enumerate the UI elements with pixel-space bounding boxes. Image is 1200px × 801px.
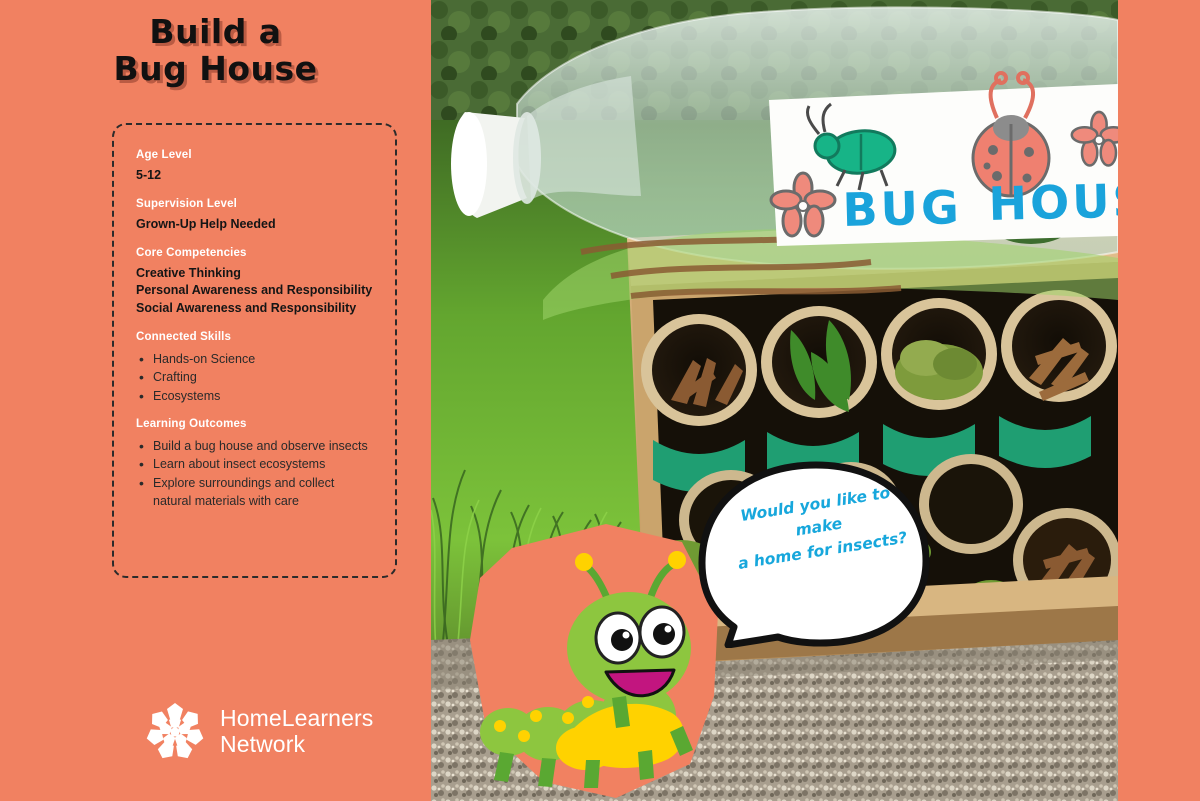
field-connected-skills: Connected Skills Hands-on Science Crafti… xyxy=(136,331,385,405)
value-line: Social Awareness and Responsibility xyxy=(136,300,385,318)
title-line-1: Build a xyxy=(0,14,431,51)
list-item: Hands-on Science xyxy=(136,350,385,368)
field-label: Learning Outcomes xyxy=(136,418,385,430)
field-value: Grown-Up Help Needed xyxy=(136,216,385,234)
logo-line-1: HomeLearners xyxy=(220,705,373,731)
value-line: Grown-Up Help Needed xyxy=(136,216,385,234)
speech-bubble: Would you like to make a home for insect… xyxy=(694,443,934,648)
field-label: Core Competencies xyxy=(136,247,385,259)
caterpillar-mascot xyxy=(466,520,720,801)
list-item-line-2: natural materials with care xyxy=(153,492,385,510)
left-info-column: Build a Bug House Age Level 5-12 Supervi… xyxy=(0,0,431,801)
flower-petal-cluster-icon xyxy=(144,701,206,763)
field-learning-outcomes: Learning Outcomes Build a bug house and … xyxy=(136,418,385,511)
right-color-strip xyxy=(1118,0,1200,801)
antenna-tip-right xyxy=(668,551,686,569)
list-item: Ecosystems xyxy=(136,387,385,405)
logo-wordmark: HomeLearners Network xyxy=(220,706,373,758)
value-line: 5-12 xyxy=(136,167,385,185)
info-card: Age Level 5-12 Supervision Level Grown-U… xyxy=(112,123,397,578)
field-age-level: Age Level 5-12 xyxy=(136,149,385,185)
connected-skills-list: Hands-on Science Crafting Ecosystems xyxy=(136,350,385,405)
field-value: 5-12 xyxy=(136,167,385,185)
field-label: Connected Skills xyxy=(136,331,385,343)
list-item: Build a bug house and observe insects xyxy=(136,437,385,455)
list-item-line-1: Explore surroundings and collect xyxy=(153,476,334,490)
list-item: Crafting xyxy=(136,368,385,386)
list-item: Explore surroundings and collect natural… xyxy=(136,474,385,511)
sign-text-bug: BUG xyxy=(842,180,962,237)
poster-page: BUG HOUSE Build a Bug House Age Level 5-… xyxy=(0,0,1200,801)
field-label: Supervision Level xyxy=(136,198,385,210)
learning-outcomes-list: Build a bug house and observe insects Le… xyxy=(136,437,385,511)
value-line: Personal Awareness and Responsibility xyxy=(136,282,385,300)
list-item: Learn about insect ecosystems xyxy=(136,455,385,473)
logo-line-2: Network xyxy=(220,732,373,758)
field-value: Creative Thinking Personal Awareness and… xyxy=(136,265,385,318)
field-core-competencies: Core Competencies Creative Thinking Pers… xyxy=(136,247,385,318)
title-line-2: Bug House xyxy=(0,51,431,88)
brand-logo: HomeLearners Network xyxy=(144,701,373,763)
value-line: Creative Thinking xyxy=(136,265,385,283)
page-title: Build a Bug House xyxy=(0,14,431,88)
field-supervision-level: Supervision Level Grown-Up Help Needed xyxy=(136,198,385,234)
field-label: Age Level xyxy=(136,149,385,161)
sign-text-house: HOUSE xyxy=(988,172,1118,231)
antenna-tip-left xyxy=(575,553,593,571)
